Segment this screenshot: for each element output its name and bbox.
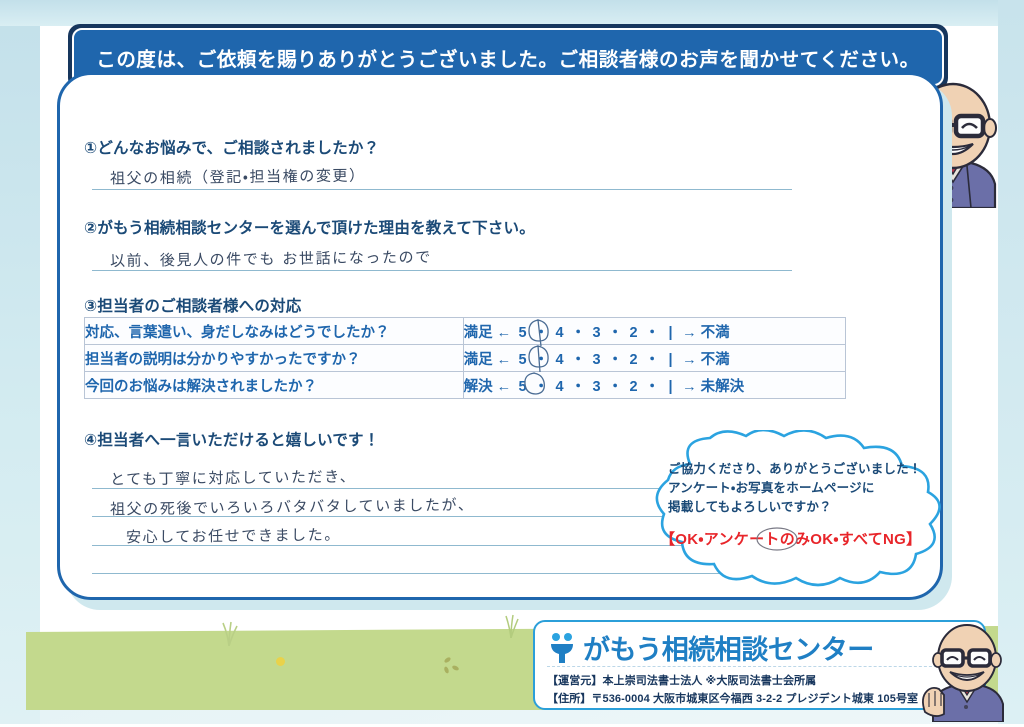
scale-sep: ・ [641, 375, 663, 396]
table-row[interactable]: 対応、言葉遣い、身だしなみはどうでしたか？ 満足←5・4・3・2・|→不満 [85, 318, 846, 345]
scale-left-arrow-3: ← [493, 379, 516, 395]
rating-scale-2[interactable]: 満足←5・4・3・2・|→不満 [463, 345, 845, 372]
scale-sep: ・ [567, 321, 589, 342]
scale-option-1[interactable]: | [663, 379, 678, 395]
scale-sep: ・ [641, 321, 663, 342]
scale-right-arrow-3: → [678, 379, 701, 395]
scale-option-1[interactable]: | [663, 325, 678, 341]
scale-option-3[interactable]: 3 [589, 352, 604, 368]
footer-operator: 【運営元】本上崇司法書士法人 ※大阪司法書士会所属 [547, 672, 816, 688]
question-4-label: ④担当者へ一言いただけると嬉しいです！ [84, 428, 379, 450]
scale-left-label-2: 満足 [464, 352, 493, 368]
q2-answer-handwriting: 以前、後見人の件でも お世話になったので [110, 246, 432, 271]
scale-option-1[interactable]: | [663, 352, 678, 368]
brand-name: がもう相続相談センター [583, 628, 874, 667]
selected-consent-circle [755, 526, 799, 552]
grass-tuft-icon [500, 612, 522, 638]
mascot-character-footer [917, 622, 1017, 722]
scale-sep: ・ [567, 348, 589, 369]
scale-option-2[interactable]: 2 [626, 352, 641, 368]
q4-answer-line-3: 安心してお任せできました。 [126, 524, 341, 548]
scale-left-label-1: 満足 [464, 325, 493, 341]
q1-answer-rule [92, 189, 792, 190]
scale-left-label-3: 解決 [464, 379, 493, 395]
scale-right-arrow-2: → [678, 352, 701, 368]
scale-option-2[interactable]: 2 [626, 379, 641, 395]
scale-option-2[interactable]: 2 [626, 325, 641, 341]
scale-right-label-1: 不満 [701, 325, 730, 341]
scale-right-label-2: 不満 [701, 352, 730, 368]
flower-icon [276, 657, 285, 666]
rating-question-2: 担当者の説明は分かりやすかったですか？ [85, 345, 464, 372]
scale-sep: ・ [530, 375, 552, 396]
rating-question-1: 対応、言葉遣い、身だしなみはどうでしたか？ [85, 318, 464, 345]
scale-sep: ・ [641, 348, 663, 369]
table-row[interactable]: 今回のお悩みは解決されましたか？ 解決←5・4・3・2・|→未解決 [85, 372, 846, 399]
scale-sep: ・ [530, 348, 552, 369]
scale-option-5[interactable]: 5 [515, 352, 530, 368]
rating-table: 対応、言葉遣い、身だしなみはどうでしたか？ 満足←5・4・3・2・|→不満 担当… [84, 317, 846, 399]
q2-answer-rule [92, 270, 792, 271]
consent-cloud-text: ご協力くださり、ありがとうございました！ アンケート・お写真をホームページに 掲… [668, 460, 958, 517]
scale-sep: ・ [604, 375, 626, 396]
consent-line-3: 掲載してもよろしいですか？ [668, 498, 958, 517]
consent-line-2: アンケート・お写真をホームページに [668, 479, 958, 498]
footer-divider [547, 666, 947, 667]
rating-scale-3[interactable]: 解決←5・4・3・2・|→未解決 [463, 372, 845, 399]
footer-address: 【住所】〒536-0004 大阪市城東区今福西 3-2-2 プレジデント城東 1… [547, 690, 918, 706]
table-row[interactable]: 担当者の説明は分かりやすかったですか？ 満足←5・4・3・2・|→不満 [85, 345, 846, 372]
scale-option-4[interactable]: 4 [552, 325, 567, 341]
q4-answer-line-1: とても丁寧に対応していただき、 [110, 465, 357, 489]
people-logo-icon [547, 632, 577, 664]
scale-option-3[interactable]: 3 [589, 325, 604, 341]
scale-right-label-3: 未解決 [701, 379, 745, 395]
grass-tuft-icon [218, 620, 240, 646]
scale-left-arrow-1: ← [493, 325, 516, 341]
rating-question-3: 今回のお悩みは解決されましたか？ [85, 372, 464, 399]
brand-logo: がもう相続相談センター [547, 628, 874, 667]
rating-scale-1[interactable]: 満足←5・4・3・2・|→不満 [463, 318, 845, 345]
scale-option-5[interactable]: 5 [515, 325, 530, 341]
consent-line-1: ご協力くださり、ありがとうございました！ [668, 460, 958, 479]
header-message: この度は、ご依頼を賜りありがとうございました。ご相談者様のお声を聞かせてください… [96, 43, 920, 72]
consent-choices[interactable]: 【OK・アンケートのみOK・すべてNG】 [660, 528, 960, 549]
background-edge-top [0, 0, 1024, 26]
scale-right-arrow-1: → [678, 325, 701, 341]
question-3-label: ③担当者のご相談者様への対応 [84, 294, 301, 316]
scale-option-3[interactable]: 3 [589, 379, 604, 395]
question-1-label: ①どんなお悩みで、ご相談されましたか？ [84, 136, 379, 158]
question-2-label: ②がもう相続相談センターを選んで頂けた理由を教えて下さい。 [84, 216, 535, 238]
q4-answer-line-2: 祖父の死後でいろいろバタバタしていましたが、 [110, 494, 475, 519]
scale-left-arrow-2: ← [493, 352, 516, 368]
q1-answer-handwriting: 祖父の相続（登記・担当権の変更） [110, 164, 366, 188]
background-edge-left [0, 0, 40, 724]
scale-sep: ・ [604, 321, 626, 342]
scale-option-5[interactable]: 5 [515, 379, 530, 395]
scale-sep: ・ [530, 321, 552, 342]
scale-option-4[interactable]: 4 [552, 352, 567, 368]
scale-option-4[interactable]: 4 [552, 379, 567, 395]
scale-sep: ・ [567, 375, 589, 396]
scale-sep: ・ [604, 348, 626, 369]
